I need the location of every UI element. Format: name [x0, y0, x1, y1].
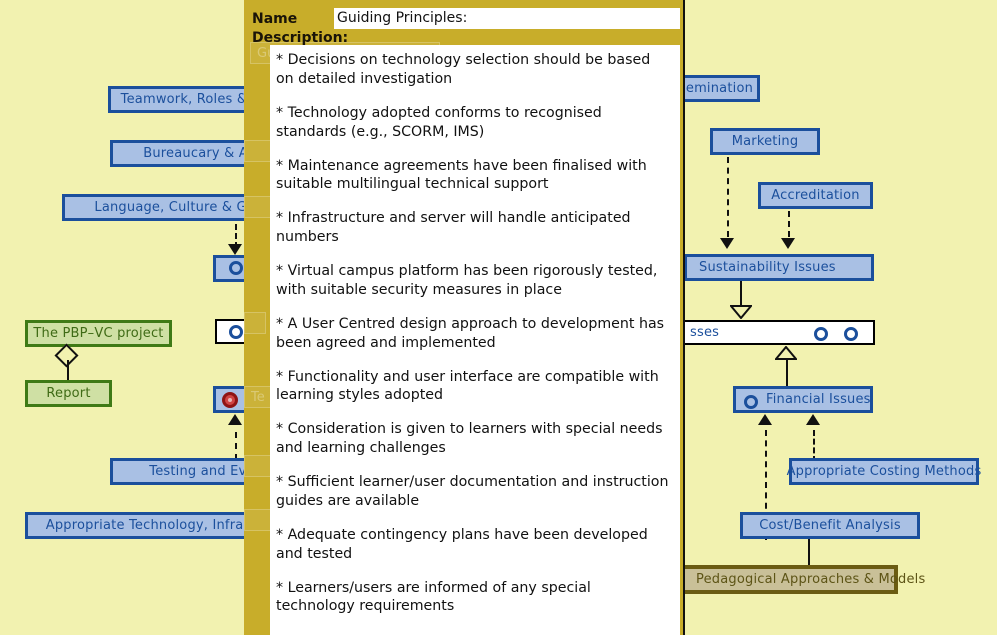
node-appropriate-costing-methods[interactable]: Appropriate Costing Methods [789, 458, 979, 485]
description-label: Description: [252, 30, 348, 46]
interface-ring-icon [844, 327, 858, 341]
ghost-node-4 [244, 312, 266, 334]
description-textarea[interactable]: * Decisions on technology selection shou… [270, 45, 680, 635]
name-label: Name [252, 11, 297, 27]
node-label: sses [690, 325, 719, 340]
dependency-connector [727, 157, 729, 237]
description-paragraph: * A User Centred design approach to deve… [276, 315, 670, 353]
node-label: Marketing [732, 134, 799, 149]
node-accreditation[interactable]: Accreditation [758, 182, 873, 209]
dependency-arrow-icon [228, 244, 242, 255]
node-financial-issues[interactable]: Financial Issues [733, 386, 873, 413]
node-pedagogical-approaches[interactable]: Pedagogical Approaches & Models [680, 565, 898, 594]
description-paragraph: * Technology adopted conforms to recogni… [276, 104, 670, 142]
interface-ring-icon [229, 325, 243, 339]
diagram-canvas: Teamwork, Roles & Responsibilities Burea… [0, 0, 997, 635]
dependency-arrow-icon [228, 414, 242, 425]
element-properties-popup[interactable]: Gu Te Name Description: * Decisions on t… [244, 0, 685, 635]
node-report[interactable]: Report [25, 380, 112, 407]
interface-ring-icon [229, 261, 243, 275]
dependency-arrow-icon [781, 238, 795, 249]
description-paragraph: * Sufficient learner/user documentation … [276, 473, 670, 511]
description-paragraph: * Infrastructure and server will handle … [276, 209, 670, 247]
aggregation-connector [67, 360, 69, 380]
interface-dot-icon [222, 392, 238, 408]
generalisation-connector [786, 358, 788, 386]
description-paragraph: * Decisions on technology selection shou… [276, 51, 670, 89]
description-paragraph: * Virtual campus platform has been rigor… [276, 262, 670, 300]
description-paragraph: * Adequate contingency plans have been d… [276, 526, 670, 564]
node-label: Sustainability Issues [699, 260, 836, 275]
dependency-connector [235, 432, 237, 460]
description-paragraph: * Learners/users are informed of any spe… [276, 579, 670, 617]
node-marketing[interactable]: Marketing [710, 128, 820, 155]
node-label: Financial Issues [766, 392, 871, 407]
dependency-arrow-icon [758, 414, 772, 425]
dependency-arrow-icon [806, 414, 820, 425]
generalisation-triangle-icon [730, 305, 752, 319]
dependency-arrow-icon [720, 238, 734, 249]
interface-ring-icon [814, 327, 828, 341]
description-paragraph: * Functionality and user interface are c… [276, 368, 670, 406]
node-label: Report [46, 386, 90, 401]
node-label: Pedagogical Approaches & Models [696, 572, 925, 587]
name-input[interactable] [334, 8, 680, 29]
node-sustainability-issues[interactable]: Sustainability Issues [684, 254, 874, 281]
interface-ring-icon [744, 395, 758, 409]
node-label: The PBP–VC project [33, 326, 163, 341]
node-issues[interactable]: sses [680, 320, 875, 345]
generalisation-connector [740, 281, 742, 307]
node-label: Appropriate Costing Methods [787, 464, 982, 479]
node-cost-benefit-analysis[interactable]: Cost/Benefit Analysis [740, 512, 920, 539]
description-paragraph: * Maintenance agreements have been final… [276, 157, 670, 195]
node-label: Cost/Benefit Analysis [759, 518, 901, 533]
node-label: Accreditation [771, 188, 859, 203]
description-paragraph: * Consideration is given to learners wit… [276, 420, 670, 458]
dependency-connector [788, 211, 790, 237]
node-pbp-vc-project[interactable]: The PBP–VC project [25, 320, 172, 347]
